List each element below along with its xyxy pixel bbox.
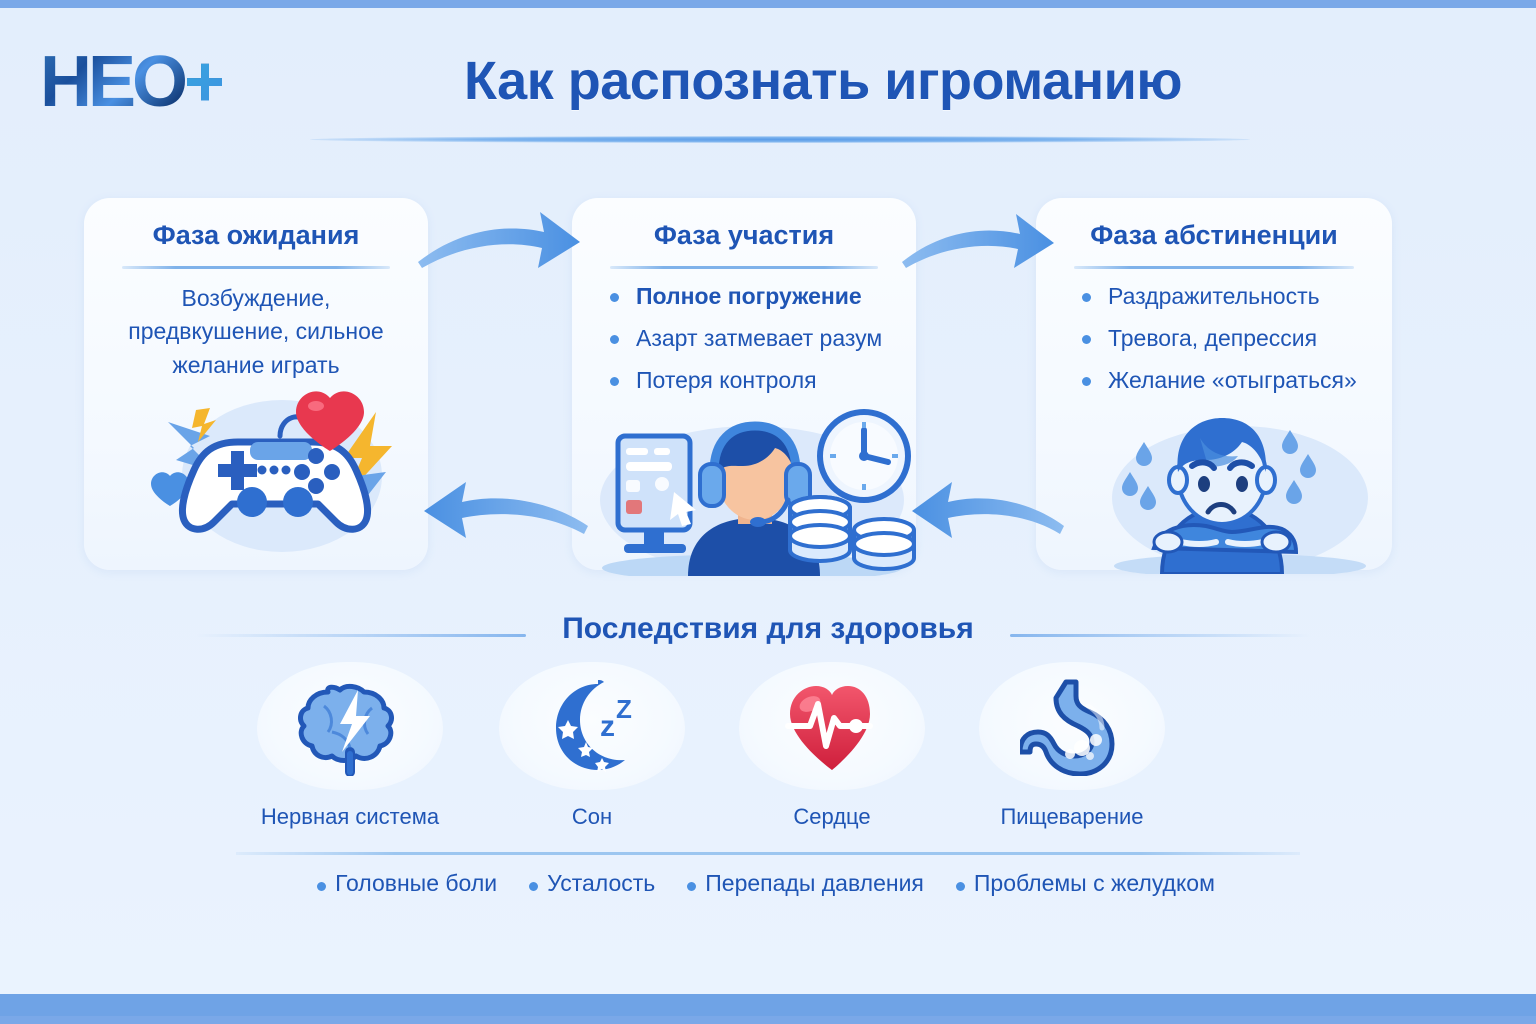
title-underline [310,136,1250,143]
svg-text:Z: Z [616,694,632,724]
health-divider [236,852,1300,855]
list-item: Потеря контроля [606,366,898,396]
list-item: Тревога, депрессия [1078,324,1374,354]
arrow-back-2-icon [900,478,1070,553]
page-title: Как распознать игроманию [0,50,1536,112]
health-item-heart[interactable]: Сердце [712,662,952,830]
list-item: Раздражительность [1078,282,1374,312]
svg-text:z: z [600,710,615,743]
heart-pulse-icon [780,676,884,776]
icon-blob: z Z [499,662,685,790]
brain-lightning-icon [298,676,402,776]
health-icons-row: Нервная система z Z Сон [0,662,1536,842]
phase-card-description: Возбуждение, предвкушение, сильное желан… [102,282,410,382]
arrow-back-1-icon [404,478,594,553]
phase-card-title: Фаза абстиненции [1036,220,1392,251]
list-item: Полное погружение [606,282,898,312]
health-item-sleep[interactable]: z Z Сон [472,662,712,830]
infographic-poster: НЕО+ Как распознать игроманию Фаза ожида… [0,8,1536,1016]
health-item-digestion[interactable]: Пищеварение [952,662,1192,830]
header: НЕО+ Как распознать игроманию [0,8,1536,148]
icon-blob [979,662,1165,790]
header-rule-right [1010,634,1310,637]
list-item: Перепады давления [673,870,942,897]
moon-zzz-icon: z Z [540,676,644,776]
arrow-forward-2-icon [898,208,1058,283]
phase-card-title: Фаза ожидания [84,220,428,251]
symptom-list: Головные боли Усталость Перепады давлени… [0,870,1536,897]
card-divider [122,266,390,269]
gamer-headset-monitor-clock-coins-icon [592,408,917,581]
sad-person-crossed-arms-icon [1104,416,1374,579]
health-header: Последствия для здоровья [0,604,1536,664]
phase-bullet-list: Полное погружение Азарт затмевает разум … [606,282,898,408]
health-item-nervous-system[interactable]: Нервная система [230,662,470,830]
stomach-icon [1020,676,1124,776]
phase-card-title: Фаза участия [572,220,916,251]
health-title: Последствия для здоровья [0,612,1536,646]
list-item: Проблемы с желудком [942,870,1233,897]
list-item: Головные боли [303,870,515,897]
phase-bullet-list: Раздражительность Тревога, депрессия Жел… [1078,282,1374,408]
card-divider [1074,266,1354,269]
list-item: Усталость [515,870,673,897]
health-item-label: Пищеварение [952,804,1192,830]
health-item-label: Нервная система [230,804,470,830]
health-item-label: Сердце [712,804,952,830]
icon-blob [739,662,925,790]
list-item: Азарт затмевает разум [606,324,898,354]
gamepad-heart-lightning-icon [140,380,410,570]
health-item-label: Сон [472,804,712,830]
card-divider [610,266,878,269]
icon-blob [257,662,443,790]
arrow-forward-1-icon [412,206,584,283]
list-item: Желание «отыграться» [1078,366,1374,396]
